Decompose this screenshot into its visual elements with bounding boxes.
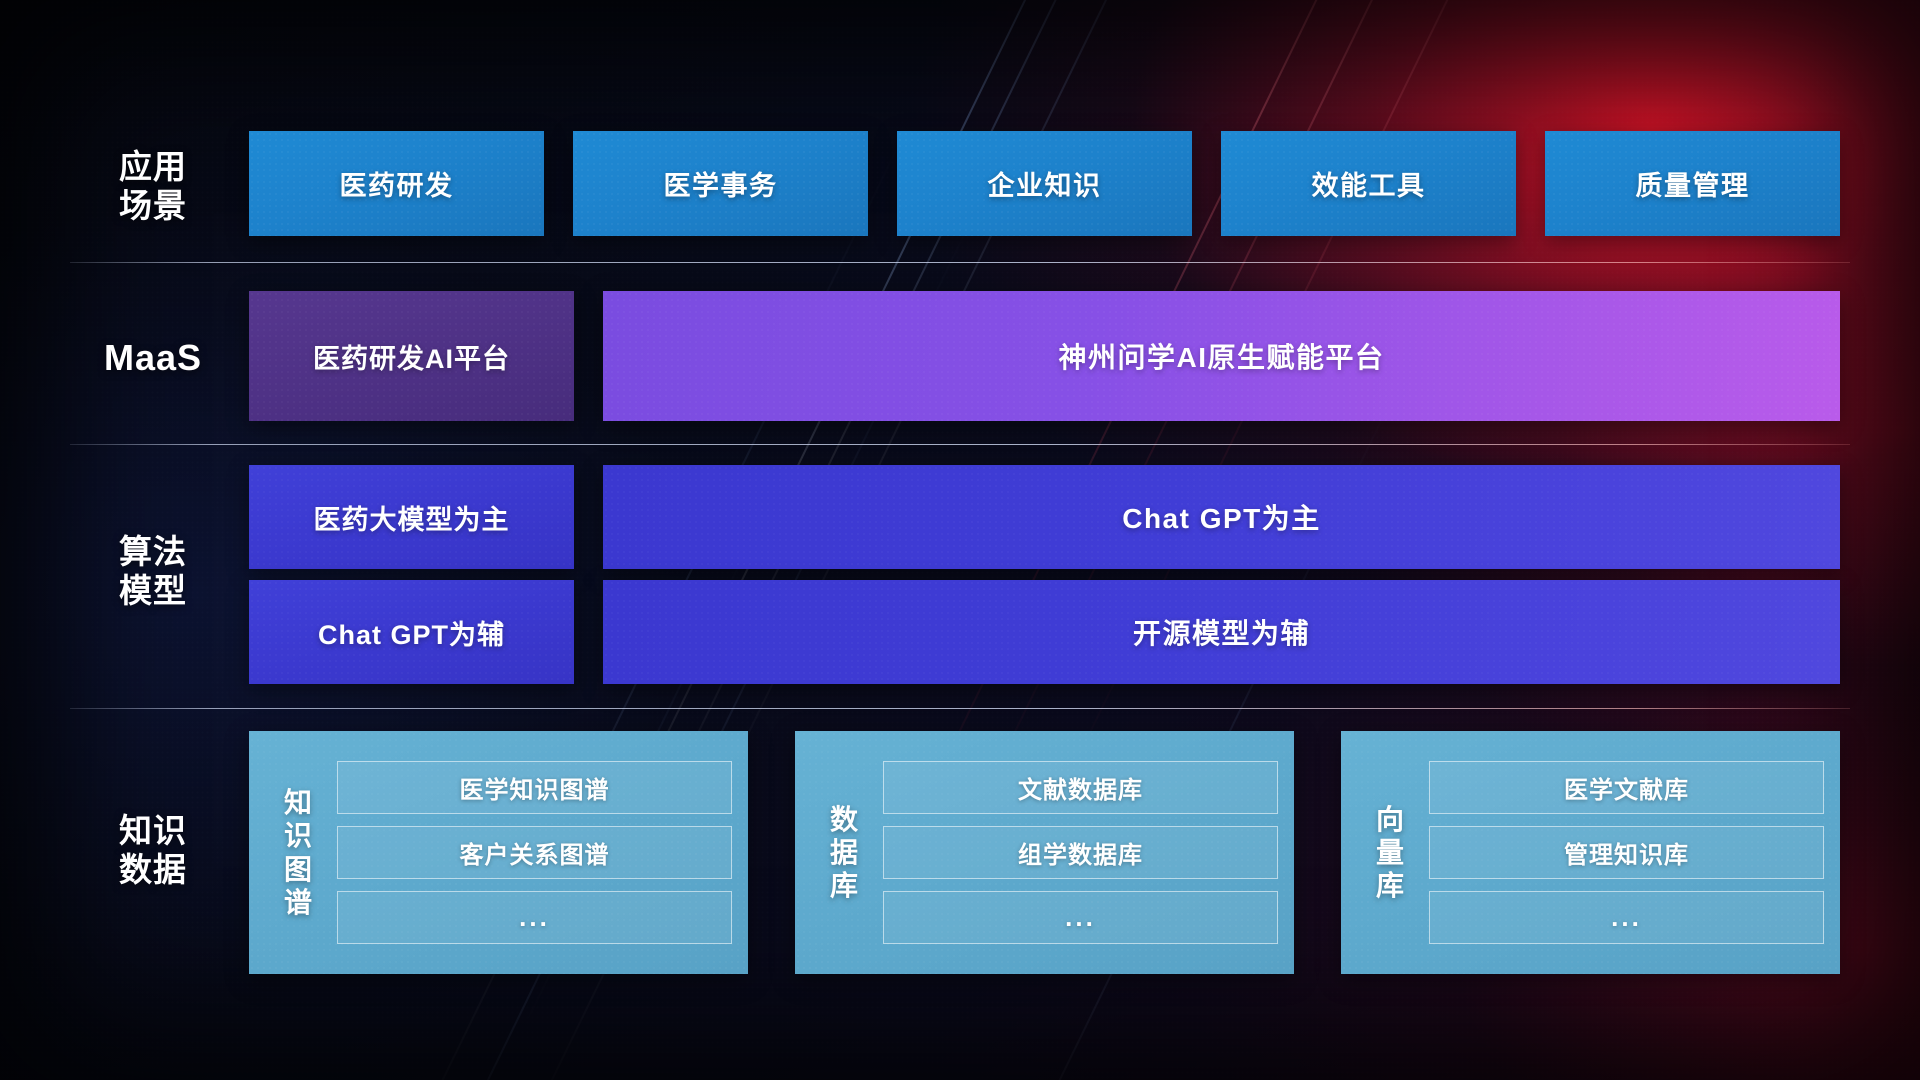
tier-label-line-1: 算法 (78, 533, 228, 572)
divider-2 (70, 444, 1850, 445)
knowledge-group-knowledge-graph: 知识图谱 医学知识图谱 客户关系图谱 ... (249, 731, 748, 974)
knowledge-group-items: 医学文献库 管理知识库 ... (1429, 745, 1824, 960)
tier-label-line-2: 场景 (78, 187, 228, 226)
algo-primary-right-label: Chat GPT为主 (1122, 497, 1321, 537)
application-scenarios-row: 医药研发 医学事务 企业知识 效能工具 质量管理 (249, 131, 1840, 236)
knowledge-group-title: 向量库 (1351, 745, 1429, 960)
tier-label-text: MaaS (78, 337, 228, 379)
divider-1 (70, 262, 1850, 263)
tier-label-algorithm-models: 算法 模型 (78, 533, 228, 611)
knowledge-item[interactable]: 文献数据库 (883, 761, 1278, 814)
app-card-1[interactable]: 医学事务 (573, 131, 868, 236)
knowledge-item[interactable]: 医学知识图谱 (337, 761, 732, 814)
algo-secondary-left[interactable]: Chat GPT为辅 (249, 580, 574, 684)
maas-platform-shenzhou-label: 神州问学AI原生赋能平台 (1058, 336, 1384, 376)
knowledge-group-items: 医学知识图谱 客户关系图谱 ... (337, 745, 732, 960)
knowledge-group-title: 数据库 (805, 745, 883, 960)
knowledge-group-items: 文献数据库 组学数据库 ... (883, 745, 1278, 960)
app-card-label: 质量管理 (1636, 164, 1750, 203)
algo-secondary-right[interactable]: 开源模型为辅 (603, 580, 1840, 684)
maas-platform-shenzhou[interactable]: 神州问学AI原生赋能平台 (603, 291, 1840, 421)
tier-label-line-1: 应用 (78, 148, 228, 187)
knowledge-item[interactable]: 医学文献库 (1429, 761, 1824, 814)
algorithm-row-secondary: Chat GPT为辅 开源模型为辅 (249, 580, 1840, 684)
knowledge-data-row: 知识图谱 医学知识图谱 客户关系图谱 ... 数据库 文献数据库 组学数据库 .… (249, 731, 1840, 974)
knowledge-group-database: 数据库 文献数据库 组学数据库 ... (795, 731, 1294, 974)
tier-label-application-scenarios: 应用 场景 (78, 148, 228, 226)
maas-platform-pharma[interactable]: 医药研发AI平台 (249, 291, 574, 421)
knowledge-item[interactable]: 管理知识库 (1429, 826, 1824, 879)
app-card-3[interactable]: 效能工具 (1221, 131, 1516, 236)
app-card-label: 医药研发 (340, 164, 454, 203)
algo-primary-right[interactable]: Chat GPT为主 (603, 465, 1840, 569)
knowledge-item[interactable]: 组学数据库 (883, 826, 1278, 879)
knowledge-group-title-text: 向量库 (1376, 803, 1404, 902)
app-card-4[interactable]: 质量管理 (1545, 131, 1840, 236)
knowledge-item[interactable]: 客户关系图谱 (337, 826, 732, 879)
algo-primary-left[interactable]: 医药大模型为主 (249, 465, 574, 569)
tier-label-knowledge-data: 知识 数据 (78, 812, 228, 890)
app-card-0[interactable]: 医药研发 (249, 131, 544, 236)
knowledge-group-vector-store: 向量库 医学文献库 管理知识库 ... (1341, 731, 1840, 974)
knowledge-item-more[interactable]: ... (883, 891, 1278, 944)
tier-label-line-1: 知识 (78, 812, 228, 851)
slide-canvas: 应用 场景 医药研发 医学事务 企业知识 效能工具 质量管理 MaaS 医药研发… (0, 0, 1920, 1080)
algo-secondary-right-label: 开源模型为辅 (1133, 612, 1310, 652)
tier-label-maas: MaaS (78, 337, 228, 379)
knowledge-item-more[interactable]: ... (337, 891, 732, 944)
algo-primary-left-label: 医药大模型为主 (314, 498, 510, 537)
divider-3 (70, 708, 1850, 709)
knowledge-item-more[interactable]: ... (1429, 891, 1824, 944)
knowledge-group-title: 知识图谱 (259, 745, 337, 960)
maas-row: 医药研发AI平台 神州问学AI原生赋能平台 (249, 291, 1840, 421)
maas-platform-pharma-label: 医药研发AI平台 (313, 337, 510, 376)
app-card-2[interactable]: 企业知识 (897, 131, 1192, 236)
knowledge-group-title-text: 数据库 (830, 803, 858, 902)
algorithm-row-primary: 医药大模型为主 Chat GPT为主 (249, 465, 1840, 569)
tier-label-line-2: 模型 (78, 572, 228, 611)
app-card-label: 医学事务 (664, 164, 778, 203)
app-card-label: 效能工具 (1312, 164, 1426, 203)
algo-secondary-left-label: Chat GPT为辅 (318, 613, 505, 652)
tier-label-line-2: 数据 (78, 851, 228, 890)
app-card-label: 企业知识 (988, 164, 1102, 203)
knowledge-group-title-text: 知识图谱 (284, 786, 312, 918)
